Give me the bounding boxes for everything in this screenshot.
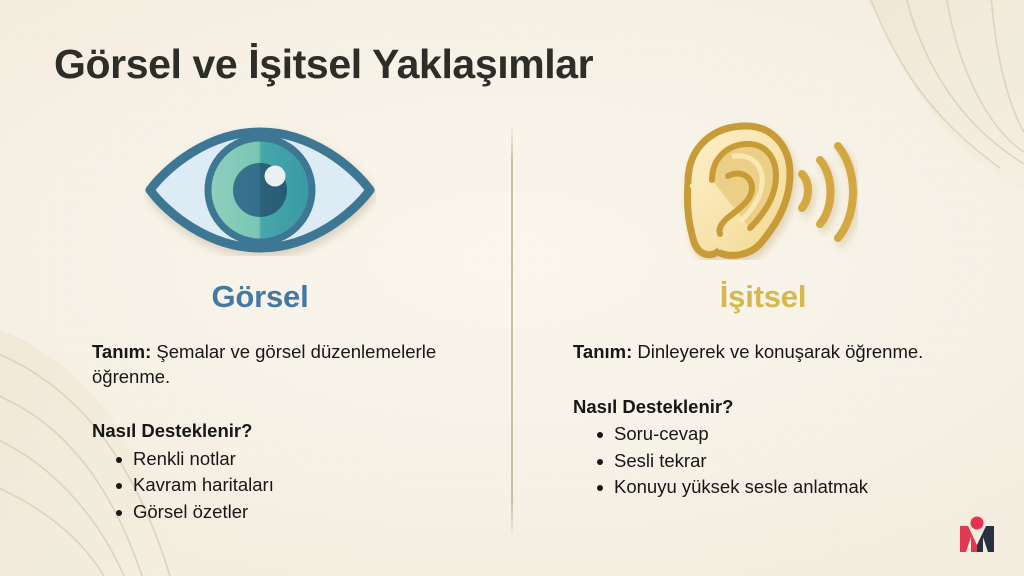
list-item: Görsel özetler [116,500,480,525]
brand-logo-icon [954,512,1000,558]
column-auditory: İşitsel Tanım: Dinleyerek ve konuşarak ö… [528,120,998,500]
support-list-visual: Renkli notlar Kavram haritaları Görsel ö… [92,447,480,525]
list-item: Kavram haritaları [116,473,480,498]
column-body-auditory: Tanım: Dinleyerek ve konuşarak öğrenme. … [528,340,998,500]
column-heading-visual: Görsel [20,279,500,315]
slide-root: Görsel ve İşitsel Yaklaşımlar [0,0,1024,576]
eye-icon [20,120,500,260]
column-visual: Görsel Tanım: Şemalar ve görsel düzenlem… [20,120,500,525]
list-item: Konuyu yüksek sesle anlatmak [597,475,988,500]
support-title-visual: Nasıl Desteklenir? [92,389,480,444]
definition-label: Tanım: [573,341,632,362]
definition-text: Dinleyerek ve konuşarak öğrenme. [632,341,923,362]
list-item: Renkli notlar [116,447,480,472]
column-heading-auditory: İşitsel [528,279,998,315]
definition-visual: Tanım: Şemalar ve görsel düzenlemelerle … [92,340,480,389]
column-body-visual: Tanım: Şemalar ve görsel düzenlemelerle … [20,340,500,525]
support-title-auditory: Nasıl Desteklenir? [573,365,988,420]
definition-label: Tanım: [92,341,151,362]
page-title: Görsel ve İşitsel Yaklaşımlar [54,41,593,88]
definition-auditory: Tanım: Dinleyerek ve konuşarak öğrenme. [573,340,988,365]
support-list-auditory: Soru-cevap Sesli tekrar Konuyu yüksek se… [573,422,988,500]
column-divider [511,124,513,538]
ear-icon [528,120,998,260]
list-item: Sesli tekrar [597,449,988,474]
list-item: Soru-cevap [597,422,988,447]
